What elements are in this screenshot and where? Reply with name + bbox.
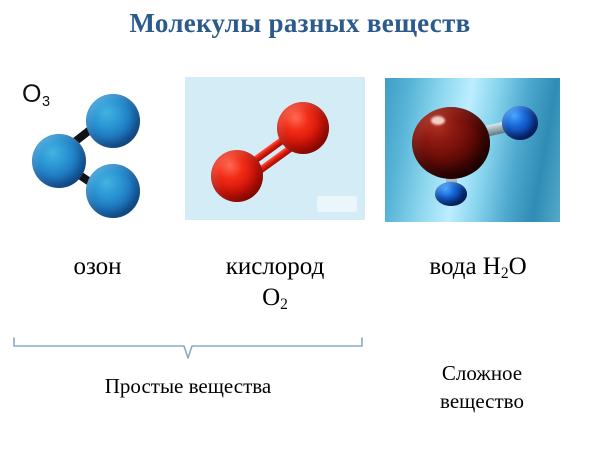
category-caption-complex-line1: Сложное bbox=[392, 360, 572, 388]
oxygen-formula-element: О bbox=[262, 284, 280, 311]
water-hydrogen-lower-icon bbox=[435, 182, 467, 206]
category-caption-simple: Простые вещества bbox=[10, 373, 366, 401]
water-hydrogen-right-icon bbox=[502, 106, 538, 140]
ozone-formula-element: O bbox=[22, 80, 41, 108]
water-oxygen-atom-icon bbox=[412, 107, 490, 179]
molecule-name-oxygen-formula: О2 bbox=[185, 283, 365, 314]
oxygen-atom-upper-icon bbox=[277, 102, 329, 154]
molecule-name-ozone-text: озон bbox=[73, 253, 121, 280]
ozone-formula-subscript: 3 bbox=[42, 94, 50, 110]
water-formula-oxygen: О bbox=[509, 253, 527, 280]
molecule-name-oxygen-line1: кислород bbox=[185, 252, 365, 283]
water-formula-subscript: 2 bbox=[501, 265, 509, 282]
ozone-formula-label: O3 bbox=[22, 82, 50, 107]
category-caption-complex-line2: вещество bbox=[392, 388, 572, 416]
ozone-atom-bottom-icon bbox=[86, 164, 140, 218]
page-title: Молекулы разных веществ bbox=[0, 8, 600, 39]
molecule-name-water-text: вода Н bbox=[429, 253, 501, 280]
oxygen-atom-lower-icon bbox=[211, 150, 263, 202]
oxygen-formula-subscript: 2 bbox=[280, 296, 288, 313]
molecule-name-oxygen: кислород О2 bbox=[185, 252, 365, 313]
molecule-image-oxygen bbox=[185, 77, 365, 220]
oxygen-image-watermark bbox=[317, 196, 357, 212]
simple-substances-brace-icon bbox=[12, 336, 364, 362]
category-caption-complex: Сложное вещество bbox=[392, 360, 572, 415]
slide-canvas: Молекулы разных веществ O3 озон кислород… bbox=[0, 0, 600, 450]
ozone-atom-left-icon bbox=[32, 134, 86, 188]
molecule-name-water: вода Н2О bbox=[378, 252, 578, 283]
molecule-image-ozone: O3 bbox=[10, 76, 180, 221]
molecule-image-water bbox=[385, 78, 560, 222]
molecule-name-ozone: озон bbox=[10, 252, 185, 283]
ozone-atom-top-icon bbox=[86, 94, 140, 148]
